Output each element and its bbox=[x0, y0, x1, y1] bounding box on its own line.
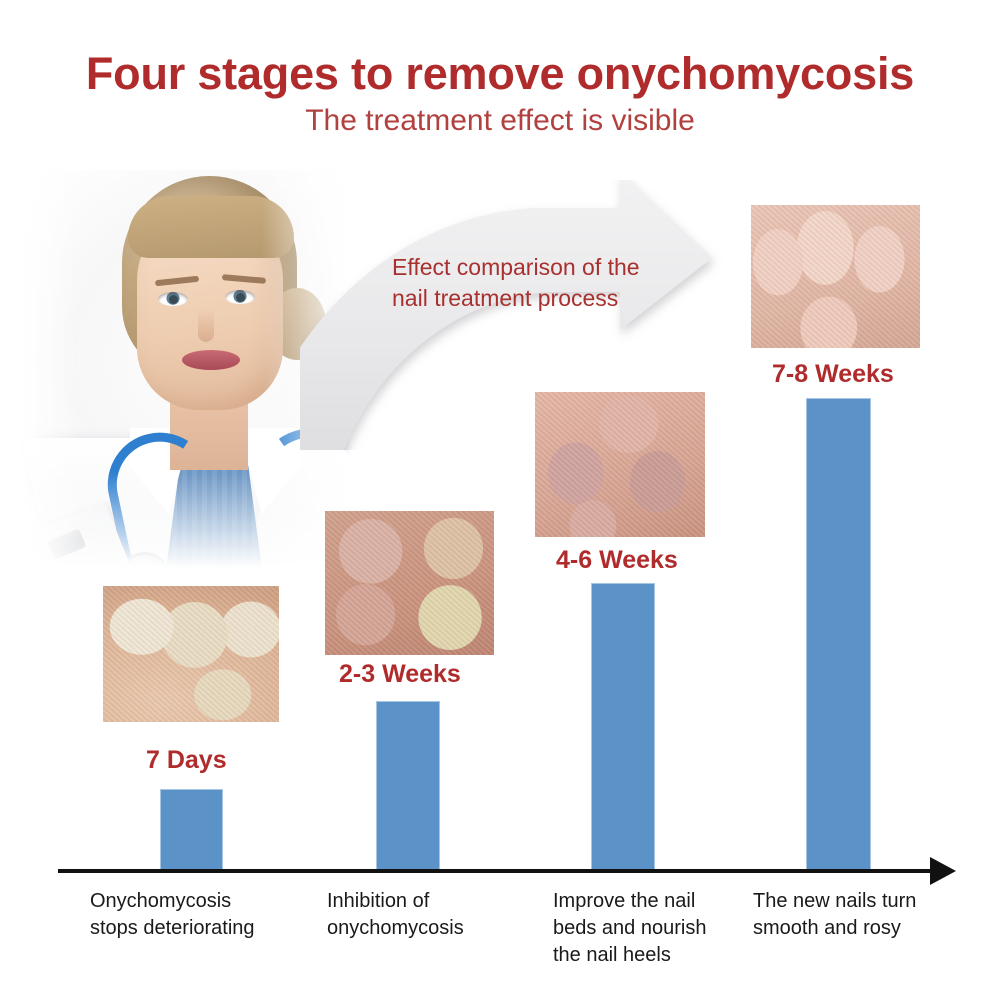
page-subtitle: The treatment effect is visible bbox=[0, 104, 1000, 138]
axis-caption-1: Onychomycosis stops deteriorating bbox=[90, 888, 290, 942]
stage-label-1: 7 Days bbox=[146, 746, 227, 775]
lips bbox=[182, 350, 240, 370]
axis-caption-2-line1: Inhibition of bbox=[327, 890, 429, 912]
stage-photo-2 bbox=[325, 511, 494, 655]
bar-stage-3 bbox=[591, 583, 655, 870]
bar-stage-4 bbox=[806, 398, 871, 870]
fade-bottom bbox=[10, 472, 370, 590]
page-title: Four stages to remove onychomycosis bbox=[0, 48, 1000, 100]
arrow-caption: Effect comparison of the nail treatment … bbox=[392, 252, 692, 314]
stage-label-2: 2-3 Weeks bbox=[339, 660, 461, 689]
axis-caption-3-line3: the nail heels bbox=[553, 944, 671, 966]
x-axis-line bbox=[58, 869, 938, 873]
axis-arrow-right-icon bbox=[930, 857, 956, 885]
photo-grain-4 bbox=[751, 205, 920, 348]
bar-stage-2 bbox=[376, 701, 440, 870]
axis-caption-3-line1: Improve the nail bbox=[553, 890, 695, 912]
photo-grain-2 bbox=[325, 511, 494, 655]
stage-label-4: 7-8 Weeks bbox=[772, 360, 894, 389]
axis-caption-3-line2: beds and nourish bbox=[553, 917, 706, 939]
axis-caption-2-line2: onychomycosis bbox=[327, 917, 464, 939]
axis-caption-3: Improve the nail beds and nourish the na… bbox=[553, 888, 753, 969]
pupil-left bbox=[169, 295, 178, 304]
axis-caption-4-line2: smooth and rosy bbox=[753, 917, 901, 939]
nose bbox=[198, 308, 214, 342]
axis-caption-1-line2: stops deteriorating bbox=[90, 917, 255, 939]
axis-caption-4-line1: The new nails turn bbox=[753, 890, 916, 912]
stage-photo-4 bbox=[751, 205, 920, 348]
stage-photo-3 bbox=[535, 392, 705, 537]
photo-grain-1 bbox=[103, 586, 279, 722]
stage-label-3: 4-6 Weeks bbox=[556, 546, 678, 575]
infographic-canvas: Four stages to remove onychomycosis The … bbox=[0, 0, 1000, 1000]
photo-grain-3 bbox=[535, 392, 705, 537]
axis-caption-2: Inhibition of onychomycosis bbox=[327, 888, 527, 942]
arrow-caption-line2: nail treatment process bbox=[392, 285, 618, 311]
axis-caption-4: The new nails turn smooth and rosy bbox=[753, 888, 963, 942]
pupil-right bbox=[236, 293, 245, 302]
axis-caption-1-line1: Onychomycosis bbox=[90, 890, 231, 912]
bar-stage-1 bbox=[160, 789, 223, 870]
arrow-caption-line1: Effect comparison of the bbox=[392, 254, 640, 280]
stage-photo-1 bbox=[103, 586, 279, 722]
